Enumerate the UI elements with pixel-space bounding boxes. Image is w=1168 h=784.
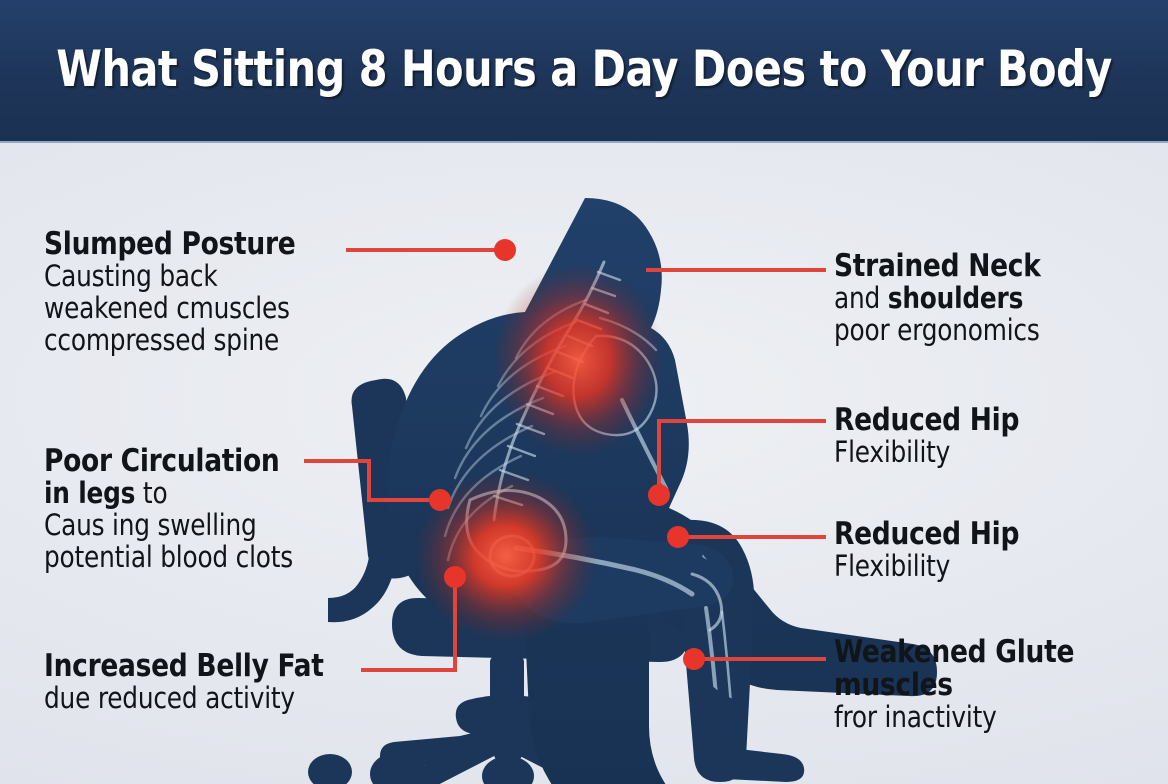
annotation-heading: Weakened Glute <box>834 636 1074 669</box>
annotation-line: poor ergonomics <box>834 315 1041 347</box>
annotation-line: fror inactivity <box>834 702 1074 734</box>
annotation-increased-belly-fat: Increased Belly Fat due reduced activity <box>44 650 338 715</box>
annotation-heading-line2: muscles <box>834 669 1074 702</box>
annotation-heading-bold: shoulders <box>888 281 1023 315</box>
annotation-heading: Slumped Posture <box>44 228 295 261</box>
annotation-line: Flexibility <box>834 551 1019 583</box>
annotation-line: potential blood clots <box>44 542 293 574</box>
annotation-line: weakened cmuscles <box>44 293 295 325</box>
annotation-line: due reduced activity <box>44 683 324 715</box>
annotation-strained-neck: Strained Neck and shoulders poor ergonom… <box>834 250 1051 347</box>
annotation-heading: Reduced Hip <box>834 404 1019 437</box>
annotation-reduced-hip-2: Reduced Hip Flexibility <box>834 518 1029 583</box>
foot <box>697 748 804 782</box>
annotation-heading-line2: in legs to <box>44 478 293 510</box>
annotation-poor-circulation: Poor Circulation in legs to Caus ing swe… <box>44 445 306 574</box>
annotation-heading-line2: and shoulders <box>834 283 1041 315</box>
hotspot-neck-shoulder <box>492 264 664 456</box>
annotation-weakened-glutes: Weakened Glute muscles fror inactivity <box>834 636 1087 734</box>
annotation-heading-bold: in legs <box>44 476 135 510</box>
annotation-reduced-hip-1: Reduced Hip Flexibility <box>834 404 1029 469</box>
annotation-line: Caus ing swelling <box>44 510 293 542</box>
annotation-heading-rest: and <box>834 281 888 315</box>
annotation-heading-rest: to <box>135 476 167 510</box>
annotation-heading: Poor Circulation <box>44 445 293 478</box>
annotation-heading: Strained Neck <box>834 250 1041 283</box>
annotation-heading: Increased Belly Fat <box>44 650 324 683</box>
annotation-slumped-posture: Slumped Posture Causting back weakened c… <box>44 228 309 357</box>
annotation-line: Flexibility <box>834 437 1019 469</box>
annotation-line: Causting back <box>44 261 295 293</box>
infographic-poster: What Sitting 8 Hours a Day Does to Your … <box>0 0 1168 784</box>
annotation-line: ccompressed spine <box>44 325 295 357</box>
chair-back-post <box>328 550 398 622</box>
hotspot-lower-back-hip <box>414 470 598 642</box>
annotation-heading: Reduced Hip <box>834 518 1019 551</box>
